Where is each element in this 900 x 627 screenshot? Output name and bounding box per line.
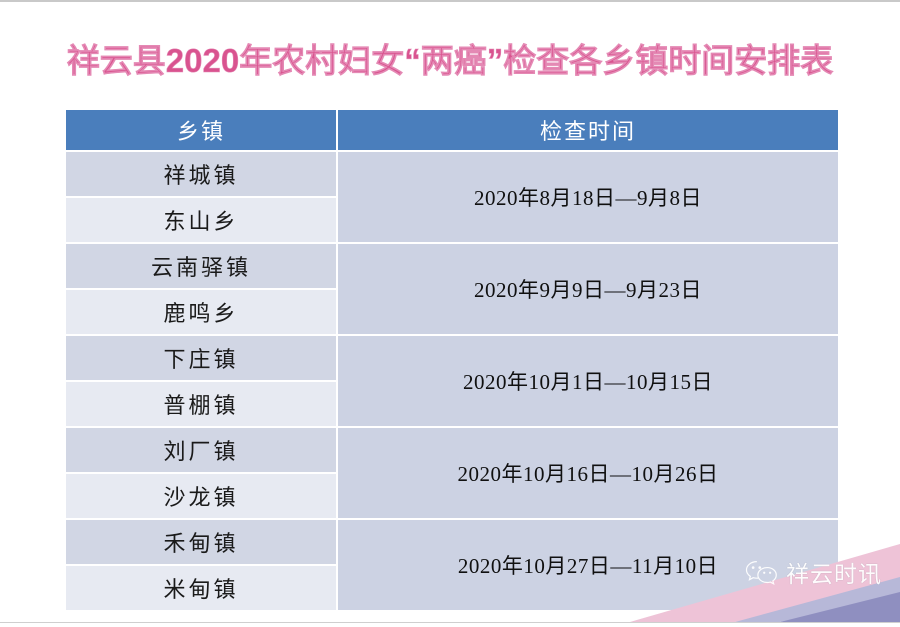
schedule-table-container: 乡镇 检查时间 祥城镇2020年8月18日—9月8日东山乡云南驿镇2020年9月… [64, 108, 838, 612]
page-title: 祥云县2020年农村妇女“两癌”检查各乡镇时间安排表 [0, 34, 900, 82]
cell-date: 2020年10月1日—10月15日 [338, 336, 838, 426]
slide-canvas: 祥云县2020年农村妇女“两癌”检查各乡镇时间安排表 乡镇 检查时间 祥城镇20… [0, 0, 900, 627]
table-row: 祥城镇2020年8月18日—9月8日 [66, 152, 838, 196]
table-row: 禾甸镇2020年10月27日—11月10日 [66, 520, 838, 564]
schedule-table: 乡镇 检查时间 祥城镇2020年8月18日—9月8日东山乡云南驿镇2020年9月… [64, 108, 840, 612]
table-row: 刘厂镇2020年10月16日—10月26日 [66, 428, 838, 472]
cell-town: 云南驿镇 [66, 244, 336, 288]
table-header-row: 乡镇 检查时间 [66, 110, 838, 150]
cell-town: 东山乡 [66, 198, 336, 242]
table-row: 云南驿镇2020年9月9日—9月23日 [66, 244, 838, 288]
cell-town: 祥城镇 [66, 152, 336, 196]
wechat-icon [745, 559, 779, 585]
slide-top-border [0, 0, 900, 2]
table-header: 乡镇 检查时间 [66, 110, 838, 150]
cell-date: 2020年8月18日—9月8日 [338, 152, 838, 242]
cell-town: 下庄镇 [66, 336, 336, 380]
watermark-text: 祥云时讯 [786, 555, 882, 589]
column-header-town: 乡镇 [66, 110, 336, 150]
cell-date: 2020年9月9日—9月23日 [338, 244, 838, 334]
column-header-date: 检查时间 [338, 110, 838, 150]
cell-town: 米甸镇 [66, 566, 336, 610]
cell-date: 2020年10月16日—10月26日 [338, 428, 838, 518]
cell-town: 鹿鸣乡 [66, 290, 336, 334]
slide-bottom-border [0, 622, 900, 623]
cell-town: 禾甸镇 [66, 520, 336, 564]
watermark: 祥云时讯 [745, 555, 882, 589]
cell-town: 普棚镇 [66, 382, 336, 426]
table-body: 祥城镇2020年8月18日—9月8日东山乡云南驿镇2020年9月9日—9月23日… [66, 152, 838, 610]
table-row: 下庄镇2020年10月1日—10月15日 [66, 336, 838, 380]
cell-town: 沙龙镇 [66, 474, 336, 518]
cell-town: 刘厂镇 [66, 428, 336, 472]
